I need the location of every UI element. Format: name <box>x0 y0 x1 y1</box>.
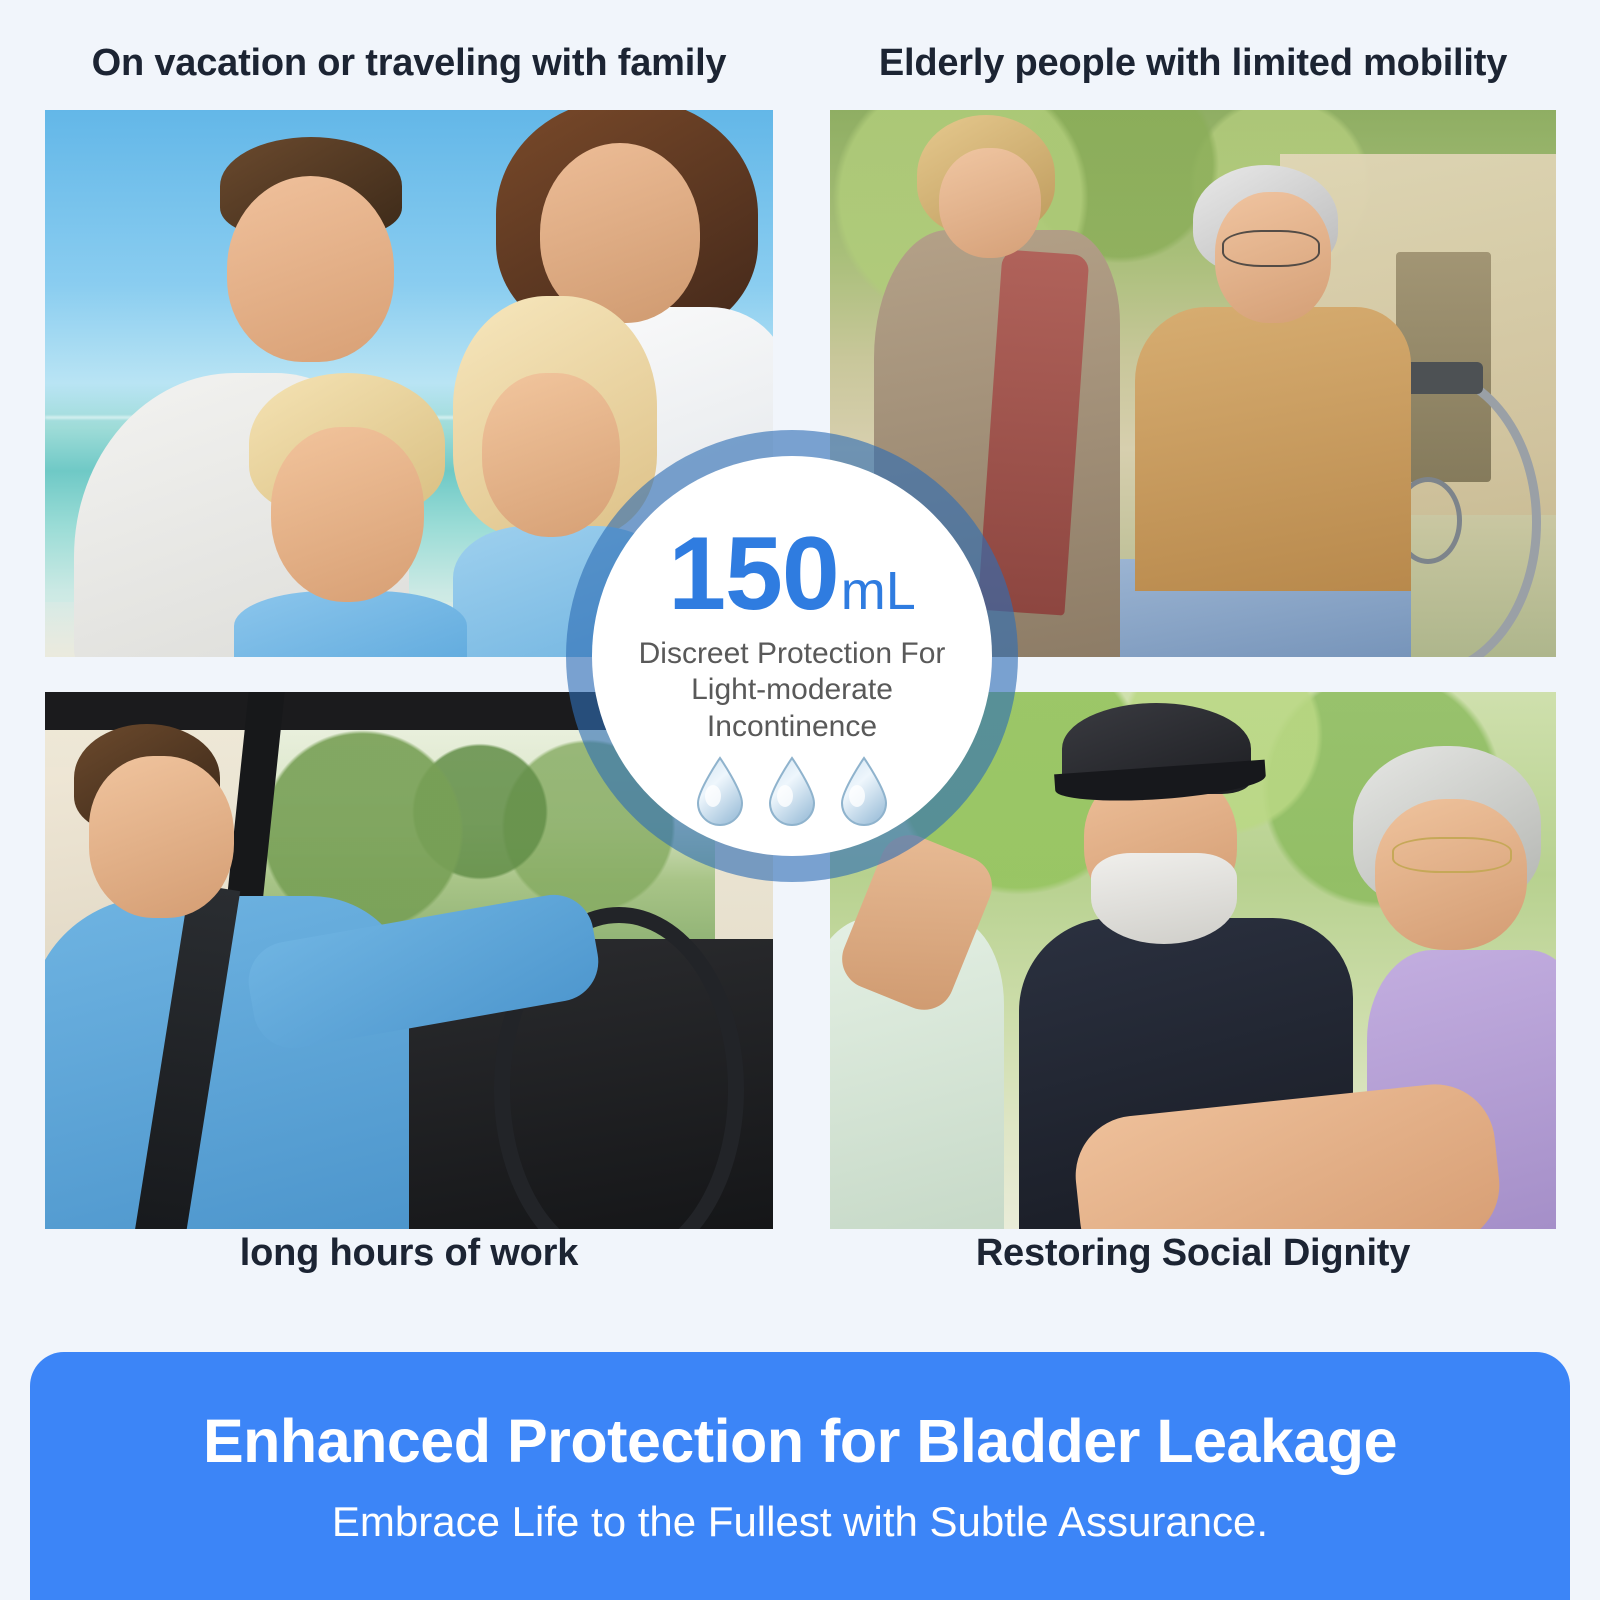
bottom-banner: Enhanced Protection for Bladder Leakage … <box>30 1352 1570 1600</box>
badge-subtitle-line1: Discreet Protection For <box>626 636 958 673</box>
badge-content: 150 mL Discreet Protection For Light-mod… <box>592 528 992 745</box>
banner-title: Enhanced Protection for Bladder Leakage <box>203 1406 1397 1476</box>
caption-bottom-left: long hours of work <box>45 1232 773 1275</box>
elderly-man-glasses <box>1222 230 1320 267</box>
caption-top-right: Elderly people with limited mobility <box>830 42 1556 85</box>
badge-subtitle-line2: Light-moderate Incontinence <box>626 672 958 745</box>
absorbency-droplets <box>592 756 992 828</box>
capacity-value-row: 150 mL <box>592 528 992 622</box>
caption-top-left: On vacation or traveling with family <box>45 42 773 85</box>
capacity-number: 150 <box>668 528 839 622</box>
woman-right-head <box>1375 799 1527 949</box>
water-droplet-icon <box>692 756 748 828</box>
caption-bottom-right: Restoring Social Dignity <box>830 1232 1556 1275</box>
man-beard <box>1091 853 1236 944</box>
woman-right-glasses <box>1392 837 1512 873</box>
banner-subtitle: Embrace Life to the Fullest with Subtle … <box>332 1498 1268 1546</box>
badge-subtitle: Discreet Protection For Light-moderate I… <box>592 636 992 746</box>
boy-head <box>271 427 424 602</box>
capacity-unit: mL <box>841 567 916 616</box>
water-droplet-icon <box>764 756 820 828</box>
elderly-man-jacket <box>1135 307 1411 591</box>
product-feature-page: On vacation or traveling with family Eld… <box>0 0 1600 1600</box>
driver-head <box>89 756 235 917</box>
man-head <box>227 176 394 362</box>
badge-white-circle: 150 mL Discreet Protection For Light-mod… <box>592 456 992 856</box>
water-droplet-icon <box>836 756 892 828</box>
capacity-badge: 150 mL Discreet Protection For Light-mod… <box>566 430 1018 882</box>
caregiver-head <box>939 148 1041 257</box>
